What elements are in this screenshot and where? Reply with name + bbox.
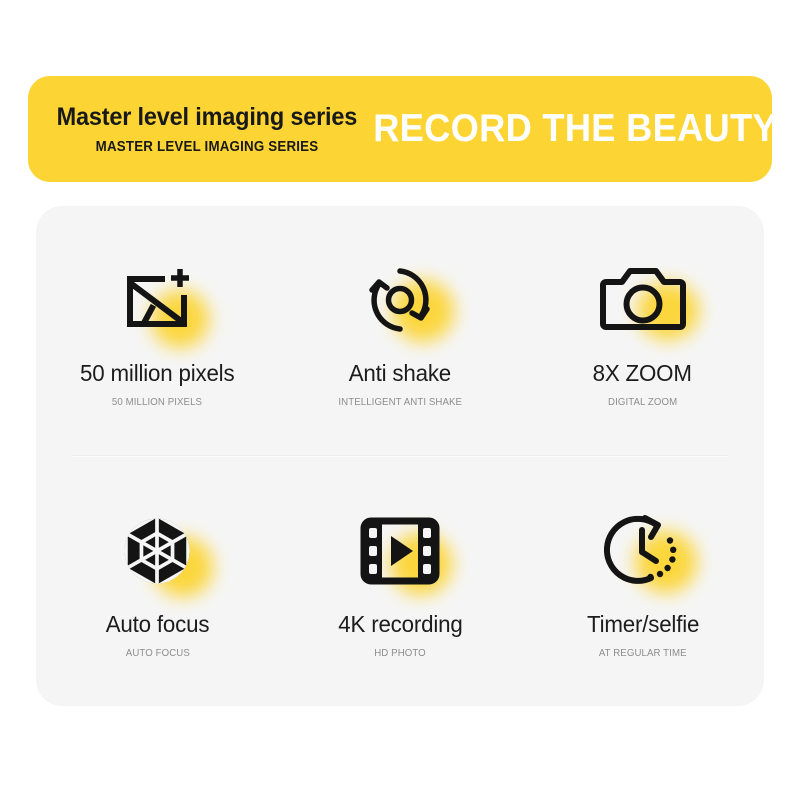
page-subtitle: MASTER LEVEL IMAGING SERIES (96, 139, 319, 155)
feature-sublabel: 50 MILLION PIXELS (112, 396, 202, 408)
anti-shake-rotate-icon (363, 263, 437, 337)
feature-item-auto-focus[interactable]: Auto focus AUTO FOCUS (36, 505, 279, 659)
icon-wrap-pixels (105, 254, 209, 346)
feature-item-recording[interactable]: 4K recording HD PHOTO (279, 505, 522, 659)
feature-sublabel: DIGITAL ZOOM (608, 396, 677, 408)
feature-row-1: 50 million pixels 50 MILLION PIXELS (36, 206, 764, 455)
icon-wrap-recording (348, 505, 452, 597)
feature-label: 4K recording (338, 611, 462, 638)
header-slogan-group: RECORD THE BEAUTY (358, 107, 800, 151)
feature-row-2: Auto focus AUTO FOCUS (36, 457, 764, 706)
feature-sublabel: AT REGULAR TIME (599, 647, 687, 659)
feature-label: Auto focus (106, 611, 210, 638)
feature-sublabel: AUTO FOCUS (125, 647, 189, 659)
icon-wrap-zoom (591, 254, 695, 346)
header-banner: Master level imaging series MASTER LEVEL… (28, 76, 772, 182)
promo-page: Master level imaging series MASTER LEVEL… (0, 0, 800, 800)
header-title-group: Master level imaging series MASTER LEVEL… (28, 103, 358, 156)
timer-clock-icon (604, 514, 682, 588)
feature-item-timer[interactable]: Timer/selfie AT REGULAR TIME (521, 505, 764, 659)
feature-item-anti-shake[interactable]: Anti shake INTELLIGENT ANTI SHAKE (279, 254, 522, 408)
icon-wrap-auto-focus (105, 505, 209, 597)
feature-item-pixels[interactable]: 50 million pixels 50 MILLION PIXELS (36, 254, 279, 408)
feature-item-zoom[interactable]: 8X ZOOM DIGITAL ZOOM (521, 254, 764, 408)
image-plus-icon (121, 267, 193, 333)
header-slogan: RECORD THE BEAUTY (373, 107, 777, 151)
film-play-icon (360, 517, 440, 585)
feature-label: Timer/selfie (587, 611, 699, 638)
feature-label: 50 million pixels (80, 360, 234, 387)
icon-wrap-anti-shake (348, 254, 452, 346)
feature-sublabel: HD PHOTO (374, 647, 426, 659)
feature-sublabel: INTELLIGENT ANTI SHAKE (338, 396, 462, 408)
feature-label: Anti shake (349, 360, 451, 387)
feature-label: 8X ZOOM (593, 360, 692, 387)
feature-card: 50 million pixels 50 MILLION PIXELS (36, 206, 764, 706)
icon-wrap-timer (591, 505, 695, 597)
page-title: Master level imaging series (57, 103, 358, 133)
camera-icon (599, 266, 687, 334)
aperture-icon (120, 514, 194, 588)
